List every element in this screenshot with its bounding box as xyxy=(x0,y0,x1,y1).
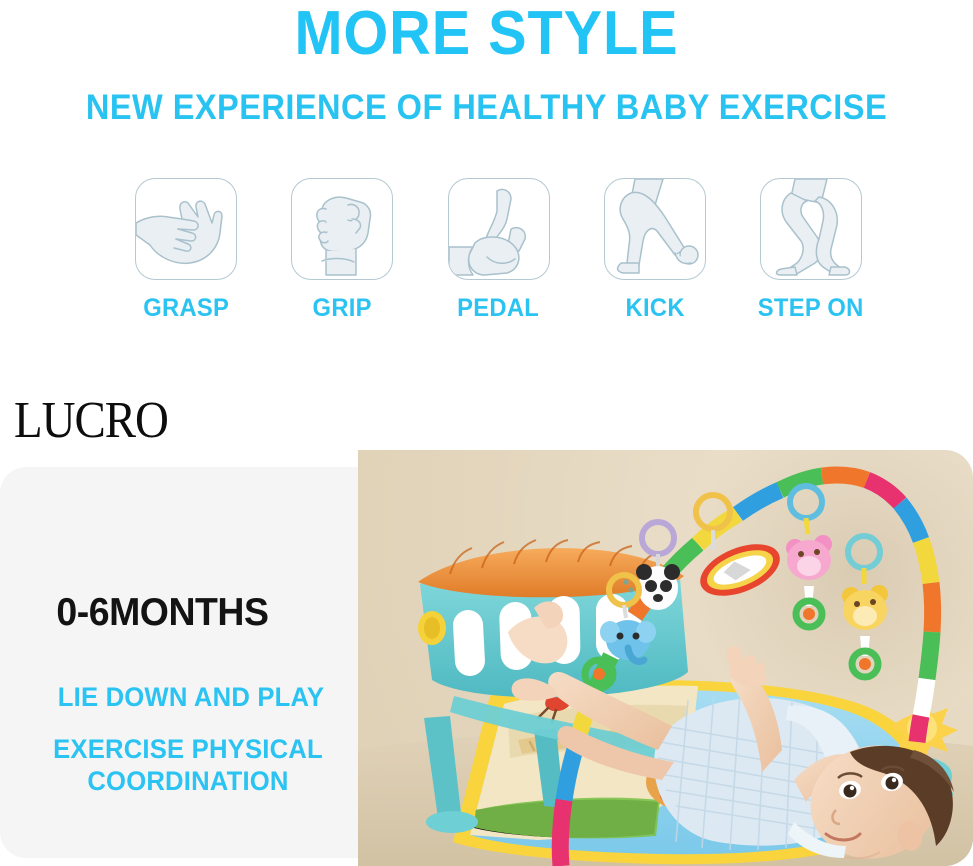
product-photo-illustration xyxy=(358,450,973,866)
brand-logo: LUCRO xyxy=(14,390,168,449)
panda-toy xyxy=(636,522,680,610)
product-photo xyxy=(358,450,973,866)
feature-label: GRASP xyxy=(143,294,229,323)
pink-bear-toy xyxy=(786,486,832,627)
feature-label: GRIP xyxy=(313,294,372,323)
feature-item-kick: KICK xyxy=(605,178,705,338)
feature-label: STEP ON xyxy=(758,294,864,323)
page-subheadline: NEW EXPERIENCE OF HEALTHY BABY EXERCISE xyxy=(34,88,939,128)
fist-icon xyxy=(291,178,393,280)
legs-step-icon xyxy=(760,178,862,280)
blurb-line-1: LIE DOWN AND PLAY xyxy=(34,682,348,713)
yellow-bear-body xyxy=(842,585,888,656)
feature-item-grasp: GRASP xyxy=(136,178,236,338)
feature-label: KICK xyxy=(625,294,684,323)
age-info-panel: 0-6MONTHS LIE DOWN AND PLAY EXERCISE PHY… xyxy=(0,467,380,858)
blurb-line-2: EXERCISE PHYSICAL COORDINATION xyxy=(28,733,347,797)
baby-legs-up-icon xyxy=(448,178,550,280)
page-headline: MORE STYLE xyxy=(34,2,939,66)
feature-item-grip: GRIP xyxy=(292,178,392,338)
feature-item-pedal: PEDAL xyxy=(449,178,549,338)
age-range-label: 0-6MONTHS xyxy=(56,591,268,635)
feature-item-step-on: STEP ON xyxy=(761,178,861,338)
feature-label: PEDAL xyxy=(458,294,540,323)
open-hand-icon xyxy=(135,178,237,280)
legs-kick-ball-icon xyxy=(604,178,706,280)
yellow-bear-toy xyxy=(842,536,888,677)
feature-icon-row: GRASP GRIP xyxy=(136,178,861,338)
pink-bear-body xyxy=(786,535,832,606)
volume-knob xyxy=(418,611,446,645)
